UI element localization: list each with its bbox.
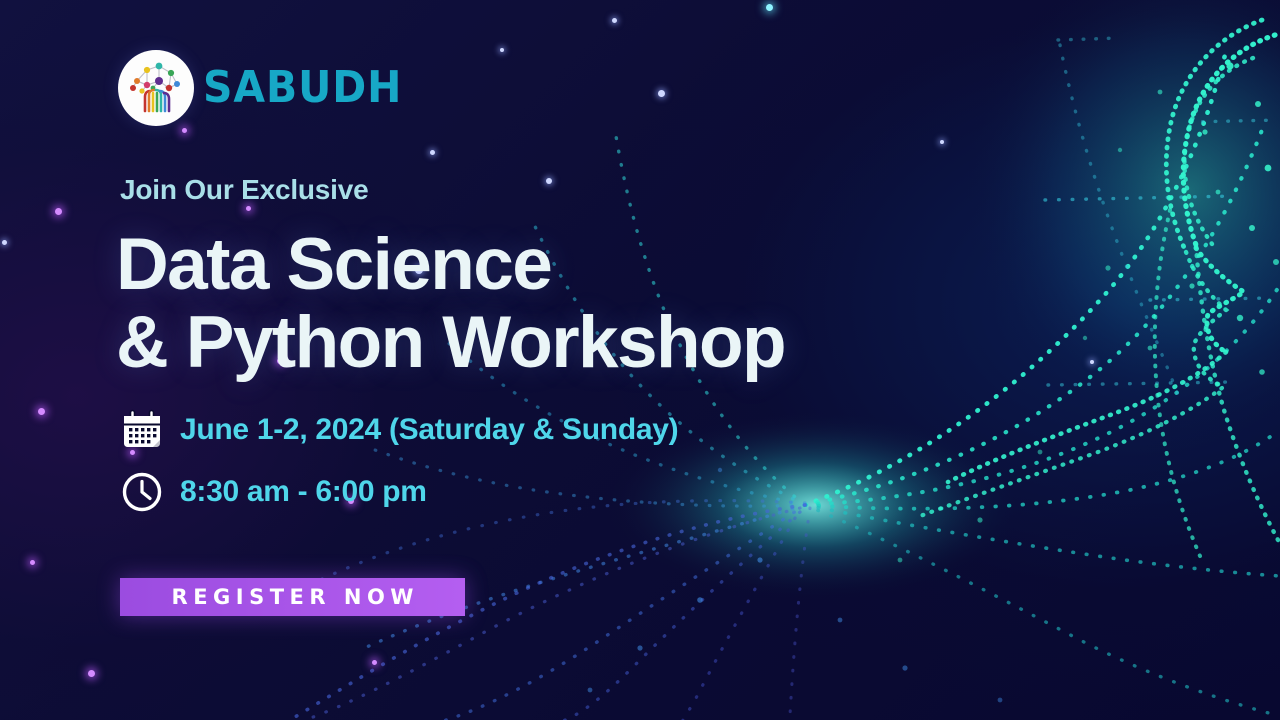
star-dot: [430, 150, 435, 155]
page-title: Data Science & Python Workshop: [116, 226, 785, 382]
hero-eyebrow: Join Our Exclusive: [120, 174, 369, 206]
star-dot: [658, 90, 665, 97]
star-dot: [246, 206, 251, 211]
star-dot: [55, 208, 62, 215]
sabudh-network-tree-logo-icon: [118, 50, 194, 126]
brand-logo[interactable]: SABUDH: [118, 50, 417, 126]
star-dot: [612, 18, 617, 23]
workshop-banner: SABUDH Join Our Exclusive Data Science &…: [0, 0, 1280, 720]
star-dot: [546, 178, 552, 184]
star-dot: [2, 240, 7, 245]
star-dot: [940, 140, 944, 144]
event-time-row: 8:30 am - 6:00 pm: [120, 470, 427, 514]
star-dot: [182, 128, 187, 133]
star-dot: [88, 670, 95, 677]
star-dot: [38, 408, 45, 415]
star-dot: [500, 48, 504, 52]
event-time-text: 8:30 am - 6:00 pm: [180, 475, 427, 509]
star-dot: [30, 560, 35, 565]
event-date-text: June 1-2, 2024 (Saturday & Sunday): [180, 413, 678, 447]
calendar-icon: [120, 408, 164, 452]
clock-icon: [120, 470, 164, 514]
title-line-2: & Python Workshop: [116, 304, 785, 382]
register-now-button[interactable]: REGISTER NOW: [120, 578, 465, 616]
star-dot: [372, 660, 377, 665]
register-now-label: REGISTER NOW: [166, 585, 419, 609]
brand-wordmark: SABUDH: [203, 66, 402, 110]
star-dot: [766, 4, 773, 11]
title-line-1: Data Science: [116, 224, 551, 305]
event-date-row: June 1-2, 2024 (Saturday & Sunday): [120, 408, 678, 452]
star-dot: [1090, 360, 1094, 364]
